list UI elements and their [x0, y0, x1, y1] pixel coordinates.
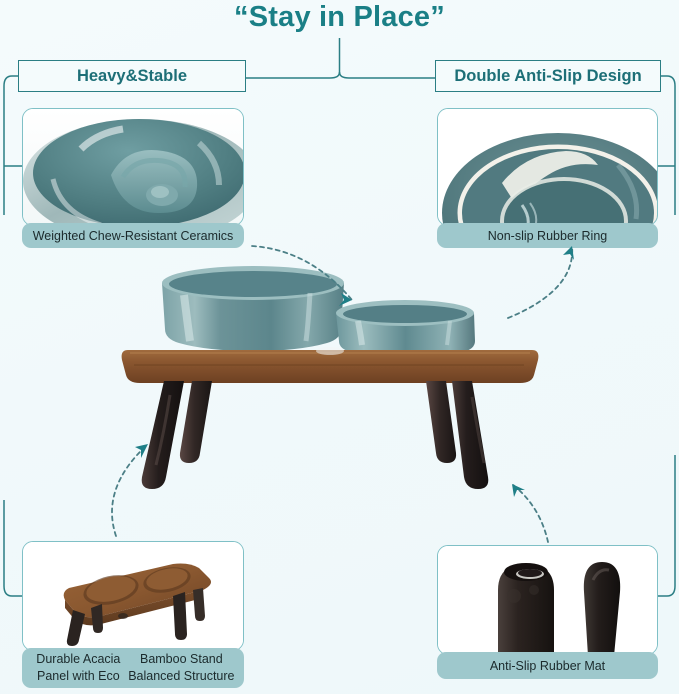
left-bracket — [4, 76, 18, 215]
right-bracket-lower — [658, 455, 675, 596]
rubber-mat-image — [438, 546, 658, 655]
caption-nonslip-rubber-ring: Non-slip Rubber Ring — [437, 223, 658, 248]
header-label-heavy-stable: Heavy&Stable — [18, 60, 246, 92]
large-bowl — [162, 266, 344, 351]
center-product-image — [120, 265, 540, 500]
panel-weighted-ceramics — [22, 108, 244, 226]
stand-legs — [142, 381, 489, 489]
caption-line-1: Durable Acacia Panel with Eco — [30, 651, 127, 685]
left-bracket-lower — [4, 500, 22, 596]
caption-acacia-stand: Durable Acacia Panel with Eco Bamboo Sta… — [22, 648, 244, 688]
caption-weighted-ceramics: Weighted Chew-Resistant Ceramics — [22, 223, 244, 248]
rubber-ring-image — [438, 109, 658, 226]
caption-line-2: Bamboo Stand Balanced Structure — [127, 651, 236, 685]
panel-nonslip-rubber-ring — [437, 108, 658, 226]
caption-antislip-rubber-mat: Anti-Slip Rubber Mat — [437, 652, 658, 679]
page-title: “Stay in Place” — [0, 1, 679, 34]
header-connector-line — [246, 72, 435, 78]
panel-antislip-rubber-mat — [437, 545, 658, 655]
panel-acacia-stand — [22, 541, 244, 651]
acacia-stand-image — [23, 542, 244, 651]
right-bracket — [661, 76, 675, 215]
wood-board — [122, 347, 539, 383]
slow-feeder-bowl-image — [23, 109, 244, 226]
header-label-double-anti-slip: Double Anti-Slip Design — [435, 60, 661, 92]
infographic-canvas: “Stay in Place” Heavy&Stable Double Anti… — [0, 0, 679, 694]
small-bowl — [336, 300, 475, 358]
